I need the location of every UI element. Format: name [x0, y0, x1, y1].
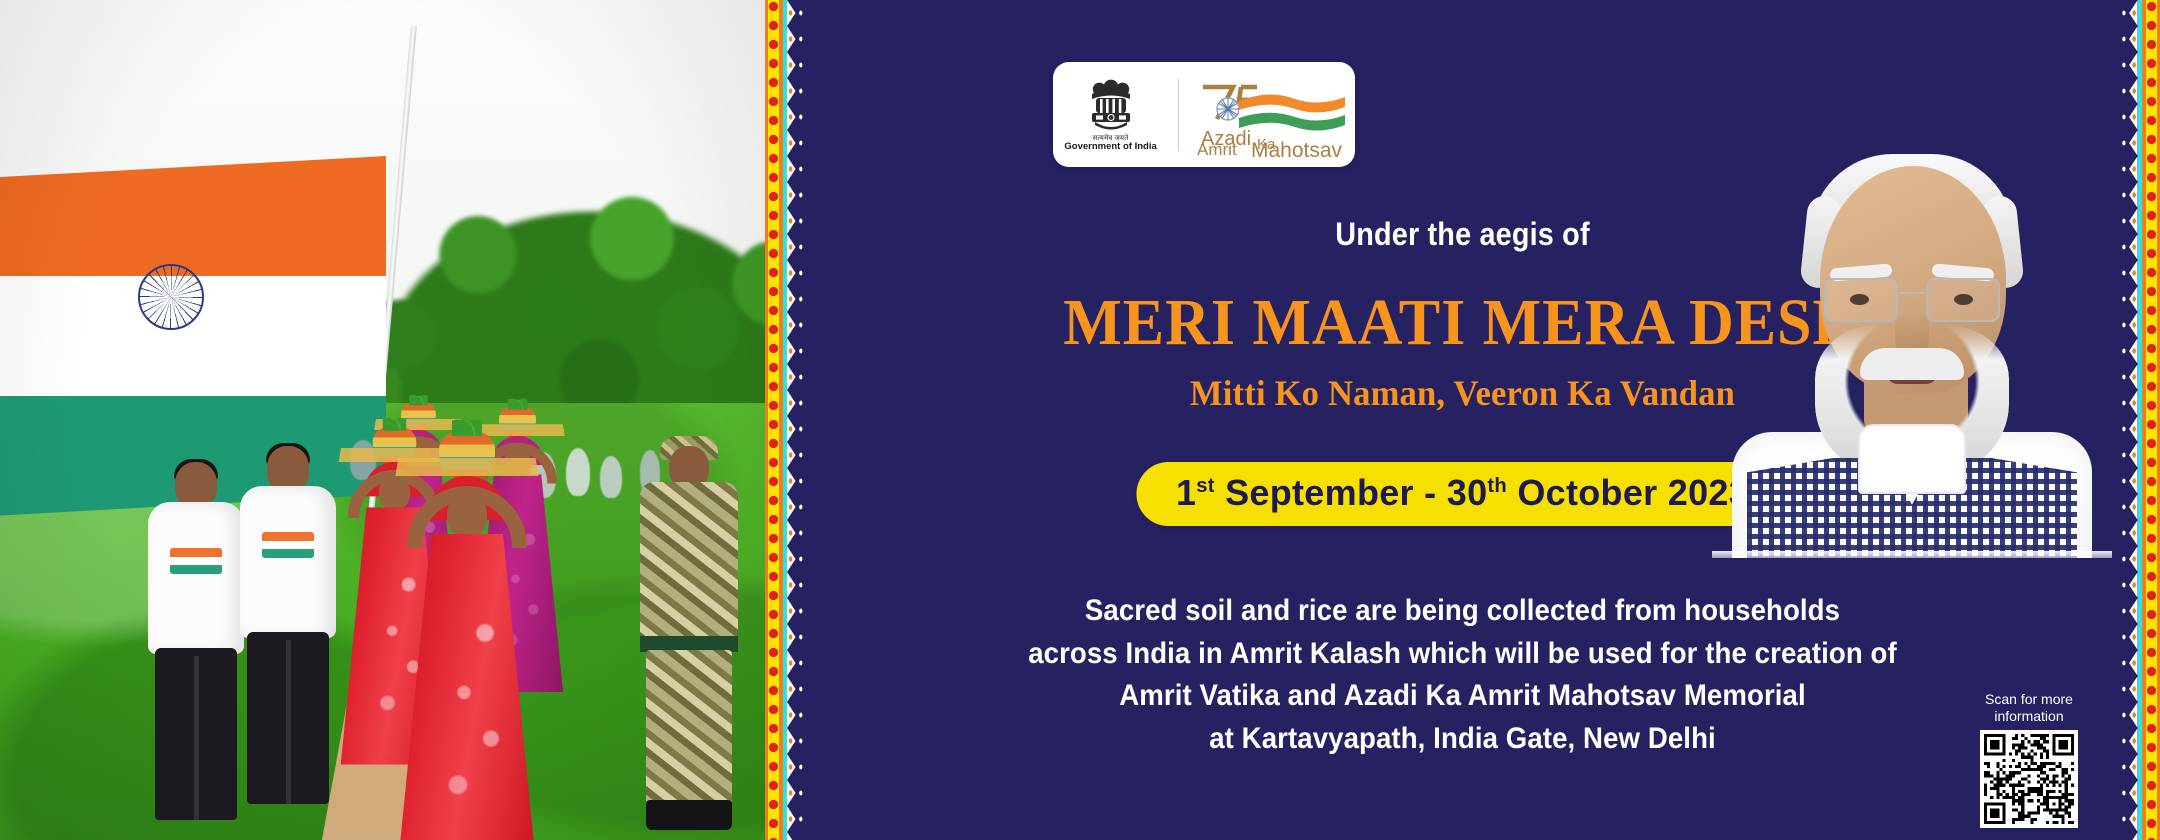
- description-line-4: at Kartavyapath, India Gate, New Delhi: [859, 718, 2065, 761]
- qr-code-icon[interactable]: [1980, 730, 2078, 828]
- svg-text:Mahotsav: Mahotsav: [1251, 139, 1343, 157]
- qr-caption-line-2: information: [1994, 708, 2063, 724]
- qr-code-svg: [1984, 734, 2074, 824]
- ashoka-lion-capital-emblem-icon: [1084, 76, 1138, 134]
- government-logo-card: सत्यमेव जयते Government of India: [1053, 62, 1355, 167]
- crowd-figure: [566, 448, 590, 496]
- border-yellow-dot-stripe: [2146, 0, 2157, 840]
- start-ordinal: st: [1196, 475, 1215, 497]
- border-yellow-dot-stripe: [768, 0, 779, 840]
- border-sawtooth-band: [787, 0, 807, 840]
- eyeglass-lens-left: [1824, 278, 1898, 322]
- eyeglass-lens-right: [1926, 278, 2000, 322]
- date-separator: -: [1424, 472, 1447, 513]
- azadi-ka-amrit-mahotsav-logo-icon: Azadi Ka Amrit Mahotsav: [1195, 73, 1351, 157]
- end-day: 30: [1447, 472, 1488, 513]
- white-tshirt: [240, 486, 336, 638]
- ornamental-border-right: [2118, 0, 2160, 840]
- ashoka-chakra-icon: [138, 264, 204, 330]
- moustache: [1860, 348, 1964, 380]
- national-emblem-block: सत्यमेव जयते Government of India: [1053, 76, 1178, 153]
- prime-minister-portrait: [1712, 80, 2112, 558]
- head: [447, 494, 487, 538]
- boots: [646, 800, 732, 830]
- description-line-3: Amrit Vatika and Azadi Ka Amrit Mahotsav…: [859, 675, 2065, 718]
- kurta-collar: [1858, 424, 1966, 494]
- procession-photo: [0, 0, 765, 840]
- qr-block[interactable]: Scan for more information: [1968, 691, 2090, 828]
- content-panel: सत्यमेव जयते Government of India: [807, 0, 2118, 840]
- sawtooth-teeth: [787, 0, 807, 840]
- eyeglass-bridge: [1899, 292, 1925, 294]
- qr-caption-line-1: Scan for more: [1985, 691, 2073, 707]
- camouflage-trousers: [646, 650, 732, 806]
- start-day: 1: [1176, 472, 1196, 513]
- white-tshirt: [148, 502, 244, 654]
- portrait-figure: [1712, 80, 2112, 558]
- campaign-description: Sacred soil and rice are being collected…: [859, 590, 2065, 760]
- camouflage-uniform: [640, 482, 738, 652]
- qr-caption: Scan for more information: [1968, 691, 2090, 725]
- trousers: [247, 632, 329, 804]
- saree-hem: [394, 458, 540, 476]
- border-sawtooth-band: [2118, 0, 2138, 840]
- svg-text:Amrit: Amrit: [1197, 140, 1237, 157]
- start-month: September: [1215, 472, 1424, 513]
- end-ordinal: th: [1487, 475, 1507, 497]
- meri-maati-mera-desh-banner: सत्यमेव जयते Government of India: [0, 0, 2160, 840]
- sawtooth-teeth: [2118, 0, 2138, 840]
- trousers: [155, 648, 237, 820]
- crowd-figure: [600, 456, 622, 498]
- portrait-bottom-edge: [1712, 551, 2112, 558]
- ornamental-border-left: [765, 0, 807, 840]
- description-line-1: Sacred soil and rice are being collected…: [859, 590, 2065, 633]
- akam-logo-block: Azadi Ka Amrit Mahotsav: [1179, 73, 1355, 157]
- description-line-2: across India in Amrit Kalash which will …: [859, 633, 2065, 676]
- tricolour-tshirt-print: [170, 548, 222, 574]
- head: [379, 476, 410, 510]
- emblem-government-label: Government of India: [1064, 142, 1156, 152]
- tricolour-tshirt-print: [262, 532, 314, 558]
- campaign-date-badge: 1st September - 30th October 2023: [1136, 462, 1789, 526]
